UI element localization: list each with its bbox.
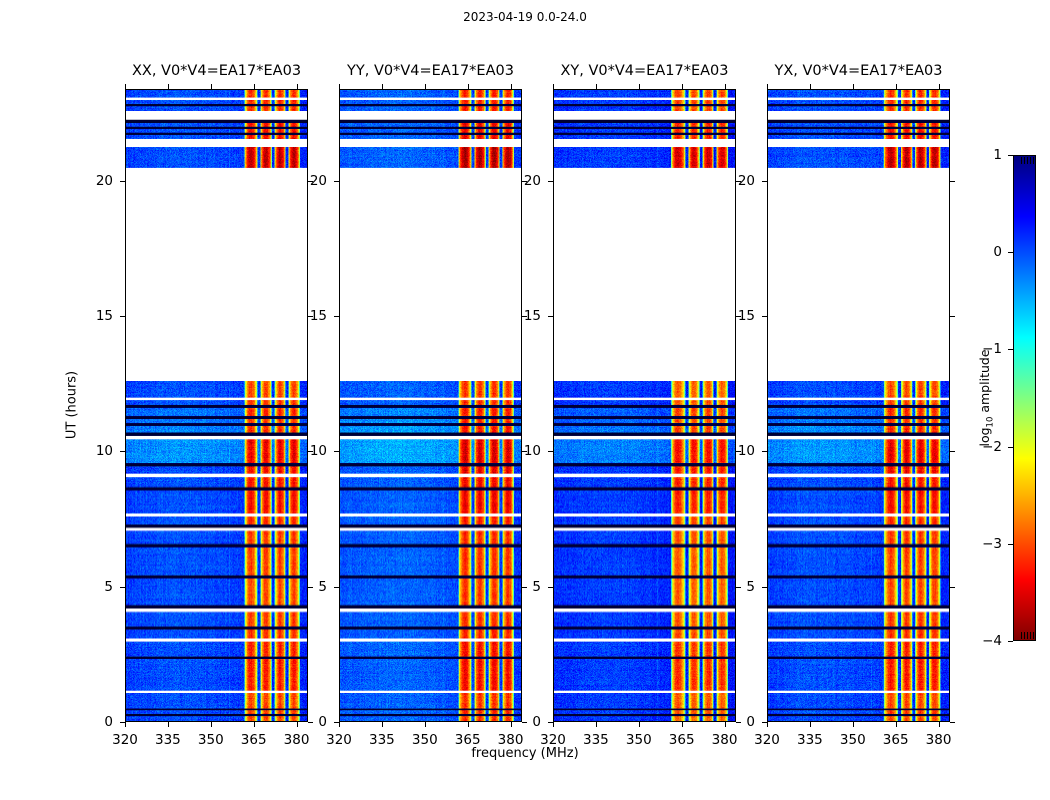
x-tick [254,722,255,727]
x-tick-label: 320 [112,732,138,748]
y-tick-right [522,722,527,723]
colorbar-tick-label: 0 [993,244,1002,260]
y-tick-label: 20 [96,173,113,189]
y-tick-label: 10 [524,443,541,459]
axes-frame-xx [125,89,308,722]
x-tick-label: 320 [326,732,352,748]
x-tick [682,722,683,727]
x-tick [896,722,897,727]
y-tick-label: 15 [738,308,755,324]
y-tick [334,587,339,588]
axes-frame-yy [339,89,522,722]
y-tick [120,722,125,723]
x-tick [639,722,640,727]
y-tick [548,587,553,588]
colorbar-tick [1008,349,1013,350]
colorbar: −4−3−2−101 [1013,155,1036,641]
colorbar-minor-tick [1027,157,1028,164]
x-tick [211,722,212,727]
x-tick [511,722,512,727]
colorbar-tick-label: −4 [982,633,1002,649]
x-tick-top [425,84,426,89]
colorbar-minor-tick [1021,632,1022,639]
y-tick [120,316,125,317]
spectrogram-panel-xx: XX, V0*V4=EA17*EA03320335350365380051015… [125,89,308,722]
y-tick-label: 20 [310,173,327,189]
x-tick [596,722,597,727]
y-tick-right [950,451,955,452]
x-tick [425,722,426,727]
x-tick-label: 335 [369,732,395,748]
y-tick [762,316,767,317]
y-tick-right [522,587,527,588]
y-tick-label: 15 [524,308,541,324]
spectrogram-image-xx [126,90,307,721]
x-tick-label: 365 [455,732,481,748]
colorbar-minor-tick [1024,632,1025,639]
y-tick-label: 15 [96,308,113,324]
y-tick-label: 10 [310,443,327,459]
x-tick-top [125,84,126,89]
y-tick-label: 0 [318,714,327,730]
colorbar-tick [1008,447,1013,448]
colorbar-tick-label: −3 [982,536,1002,552]
y-tick [334,316,339,317]
x-tick-label: 365 [669,732,695,748]
colorbar-label-tail: amplitude [977,349,992,416]
y-tick [548,451,553,452]
colorbar-tick [1008,544,1013,545]
x-tick-top [211,84,212,89]
spectrogram-panel-yy: YY, V0*V4=EA17*EA03320335350365380051015… [339,89,522,722]
y-tick-right [736,722,741,723]
x-tick-label: 380 [926,732,952,748]
y-tick-label: 15 [310,308,327,324]
colorbar-label: log10 amplitude [977,349,996,446]
y-tick-label: 5 [318,579,327,595]
y-tick [120,587,125,588]
y-tick-right [308,587,313,588]
colorbar-tick [1008,252,1013,253]
colorbar-gradient [1013,155,1036,641]
x-tick-top [468,84,469,89]
x-tick-label: 335 [155,732,181,748]
x-tick-top [639,84,640,89]
panel-title-yy: YY, V0*V4=EA17*EA03 [309,63,552,79]
x-tick-top [725,84,726,89]
spectrogram-figure: 2023-04-19 0.0-24.0 UT (hours) frequency… [0,0,1050,800]
x-axis-label: frequency (MHz) [0,746,1050,761]
x-tick-top [810,84,811,89]
spectrogram-panel-yx: YX, V0*V4=EA17*EA03320335350365380051015… [767,89,950,722]
colorbar-tick-label: −2 [982,439,1002,455]
x-tick [339,722,340,727]
spectrogram-image-xy [554,90,735,721]
panel-title-xx: XX, V0*V4=EA17*EA03 [95,63,338,79]
x-tick-top [553,84,554,89]
colorbar-tick-label: 1 [993,147,1002,163]
y-tick [120,451,125,452]
x-tick-top [254,84,255,89]
y-tick [334,451,339,452]
x-tick-label: 380 [284,732,310,748]
y-tick-right [950,587,955,588]
y-tick [762,587,767,588]
y-tick-label: 0 [746,714,755,730]
x-tick-top [896,84,897,89]
x-tick-label: 350 [840,732,866,748]
x-tick-label: 380 [712,732,738,748]
colorbar-minor-tick [1027,632,1028,639]
x-tick [767,722,768,727]
y-tick-label: 5 [532,579,541,595]
x-tick [382,722,383,727]
y-tick [762,451,767,452]
axes-frame-xy [553,89,736,722]
x-tick [810,722,811,727]
spectrogram-panel-xy: XY, V0*V4=EA17*EA03320335350365380051015… [553,89,736,722]
x-tick [468,722,469,727]
colorbar-tick-label: −1 [982,341,1002,357]
x-tick-label: 350 [626,732,652,748]
panel-title-xy: XY, V0*V4=EA17*EA03 [523,63,766,79]
x-tick [168,722,169,727]
y-tick-right [736,587,741,588]
x-tick-label: 320 [540,732,566,748]
axes-frame-yx [767,89,950,722]
colorbar-tick [1008,641,1013,642]
y-tick [334,181,339,182]
colorbar-label-sub: 10 [985,417,995,428]
x-tick-top [596,84,597,89]
x-tick-top [682,84,683,89]
y-tick-label: 5 [104,579,113,595]
y-tick-label: 0 [532,714,541,730]
x-tick-top [511,84,512,89]
x-tick-top [168,84,169,89]
y-tick-label: 0 [104,714,113,730]
y-tick [548,181,553,182]
x-tick-label: 320 [754,732,780,748]
colorbar-minor-tick [1021,157,1022,164]
x-tick [725,722,726,727]
x-tick-label: 365 [883,732,909,748]
y-tick [762,181,767,182]
y-tick-label: 20 [524,173,541,189]
spectrogram-image-yx [768,90,949,721]
panel-title-yx: YX, V0*V4=EA17*EA03 [737,63,980,79]
colorbar-minor-tick [1033,157,1034,164]
x-tick-top [382,84,383,89]
y-tick-right [950,316,955,317]
colorbar-minor-tick [1033,632,1034,639]
y-tick [548,722,553,723]
x-tick-label: 335 [583,732,609,748]
colorbar-minor-tick [1030,632,1031,639]
x-tick [297,722,298,727]
x-tick [553,722,554,727]
y-tick-right [308,722,313,723]
y-tick [334,722,339,723]
y-tick-right [950,181,955,182]
y-tick [762,722,767,723]
x-tick-top [767,84,768,89]
y-axis-label: UT (hours) [65,371,80,439]
colorbar-tick [1008,155,1013,156]
y-tick [120,181,125,182]
x-tick-label: 335 [797,732,823,748]
y-tick-label: 10 [96,443,113,459]
y-tick-label: 10 [738,443,755,459]
spectrogram-image-yy [340,90,521,721]
x-tick [125,722,126,727]
x-tick [939,722,940,727]
x-tick-label: 350 [198,732,224,748]
x-tick-top [939,84,940,89]
x-tick-label: 350 [412,732,438,748]
y-tick-right [950,722,955,723]
x-tick-top [297,84,298,89]
x-tick-label: 365 [241,732,267,748]
x-tick [853,722,854,727]
x-tick-label: 380 [498,732,524,748]
x-tick-top [339,84,340,89]
x-tick-top [853,84,854,89]
y-tick-label: 5 [746,579,755,595]
y-tick [548,316,553,317]
colorbar-minor-tick [1024,157,1025,164]
figure-suptitle: 2023-04-19 0.0-24.0 [0,10,1050,24]
colorbar-minor-tick [1030,157,1031,164]
y-tick-label: 20 [738,173,755,189]
